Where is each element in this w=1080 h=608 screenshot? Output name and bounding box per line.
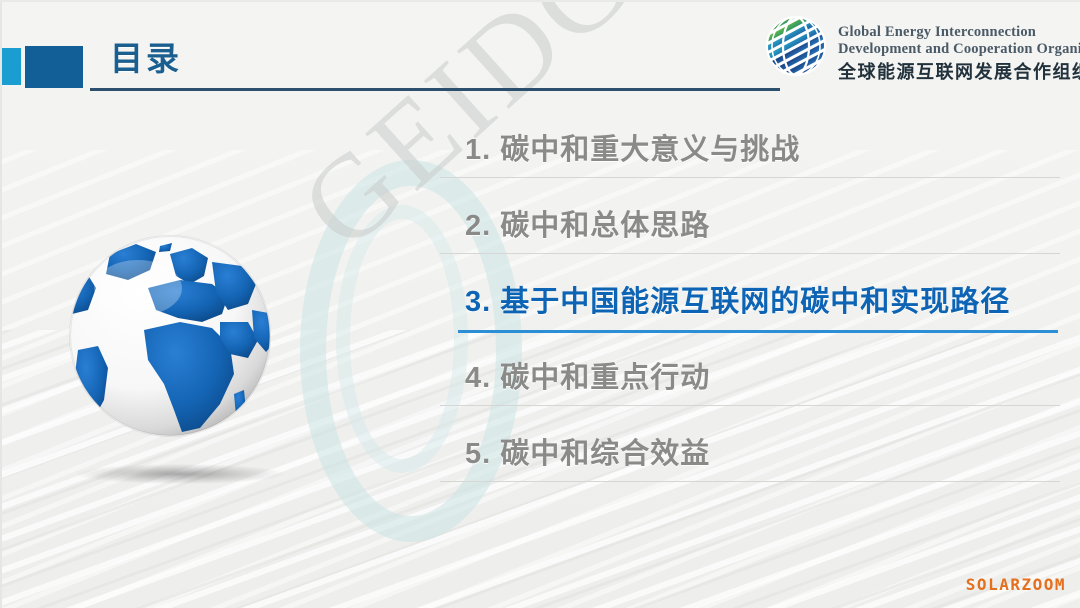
- slide-edge-top: [0, 0, 1080, 2]
- watermark-brand: SOLARZOOM: [966, 575, 1066, 594]
- slide-canvas: GEIDCO 目录: [0, 0, 1080, 608]
- agenda-item-label: 1. 碳中和重大意义与挑战: [465, 126, 800, 168]
- header-accent-square-cyan: [0, 48, 21, 85]
- agenda-item-3[interactable]: 3. 基于中国能源互联网的碳中和实现路径: [440, 270, 1060, 346]
- agenda-item-2[interactable]: 2. 碳中和总体思路: [440, 194, 1060, 270]
- header-accent-square-blue: [25, 46, 83, 88]
- agenda-list: 1. 碳中和重大意义与挑战 2. 碳中和总体思路 3. 基于中国能源互联网的碳中…: [440, 118, 1060, 498]
- agenda-item-divider: [440, 481, 1060, 482]
- globe-illustration: [52, 218, 302, 508]
- globe-grid-logo-icon: [762, 12, 830, 80]
- agenda-item-4[interactable]: 4. 碳中和重点行动: [440, 346, 1060, 422]
- slide-edge-left: [0, 0, 2, 608]
- agenda-item-active-underline: [458, 330, 1058, 333]
- agenda-item-divider: [440, 405, 1060, 406]
- agenda-item-label: 3. 基于中国能源互联网的碳中和实现路径: [465, 278, 1010, 320]
- agenda-item-divider: [440, 253, 1060, 254]
- agenda-item-divider: [440, 177, 1060, 178]
- agenda-item-label: 4. 碳中和重点行动: [465, 354, 710, 396]
- header-divider: [90, 88, 780, 91]
- agenda-item-label: 2. 碳中和总体思路: [465, 202, 710, 244]
- page-title: 目录: [110, 32, 182, 80]
- organization-logo: Global Energy Interconnection Developmen…: [762, 8, 1074, 86]
- logo-chinese-name: 全球能源互联网发展合作组织: [838, 58, 1080, 84]
- logo-english-line1: Global Energy Interconnection: [838, 24, 1036, 41]
- agenda-item-label: 5. 碳中和综合效益: [465, 430, 710, 472]
- agenda-item-5[interactable]: 5. 碳中和综合效益: [440, 422, 1060, 498]
- globe-shadow: [76, 464, 284, 484]
- agenda-item-1[interactable]: 1. 碳中和重大意义与挑战: [440, 118, 1060, 194]
- logo-english-line2: Development and Cooperation Organization: [838, 41, 1080, 58]
